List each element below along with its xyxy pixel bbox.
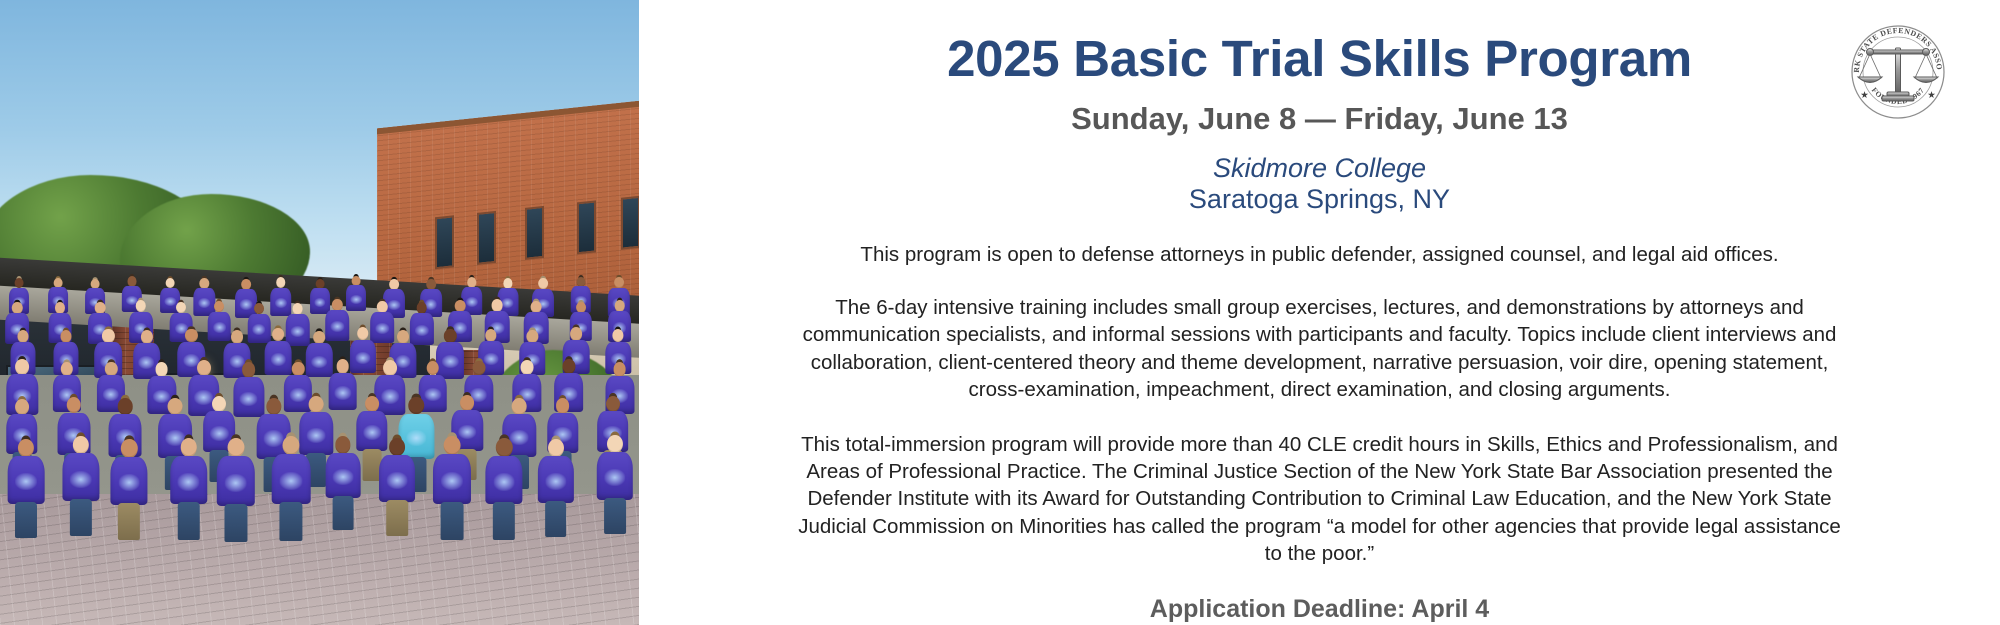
participant-head — [292, 362, 304, 376]
group-photo — [0, 0, 639, 625]
photo-scene — [0, 0, 639, 625]
participant-shirt — [399, 414, 434, 459]
participant-head — [357, 327, 369, 340]
participant-head — [197, 360, 211, 376]
participant-shirt — [325, 310, 349, 340]
participant-legs — [15, 502, 37, 539]
participant-head — [332, 299, 342, 311]
participant-shirt — [62, 453, 99, 501]
participant-head — [276, 277, 286, 288]
participant-head — [531, 301, 542, 313]
participant-head — [409, 397, 424, 415]
participant-head — [292, 303, 303, 315]
participant-legs — [545, 501, 567, 537]
participant-shirt — [306, 343, 332, 377]
participant-head — [613, 329, 624, 342]
participant-head — [254, 303, 264, 314]
participant-head — [212, 396, 226, 412]
participant-head — [282, 436, 299, 455]
participant-legs — [224, 504, 247, 542]
participant-head — [570, 327, 582, 340]
participant-head — [576, 302, 586, 313]
participant-shirt — [346, 285, 366, 311]
participant-shirt — [285, 314, 310, 346]
participant-head — [309, 396, 324, 413]
participant-head — [548, 439, 564, 457]
participant-head — [416, 302, 427, 314]
participant-shirt — [371, 312, 395, 343]
participant-head — [467, 277, 477, 288]
participant-head — [121, 439, 137, 458]
participant-legs — [333, 496, 354, 531]
participant-head — [397, 330, 409, 344]
participant-legs — [118, 503, 140, 540]
participant-legs — [70, 499, 92, 536]
participant-head — [176, 302, 186, 313]
participant-head — [472, 361, 485, 376]
participant-head — [17, 330, 28, 343]
participant-head — [614, 300, 625, 312]
participant-shirt — [436, 342, 464, 378]
participant-head — [118, 398, 133, 415]
participant-head — [444, 436, 461, 455]
participant-head — [135, 300, 146, 312]
participant-head — [455, 300, 466, 312]
participant-head — [527, 330, 538, 343]
participant-head — [313, 331, 325, 344]
participant-legs — [441, 502, 464, 540]
participant-head — [426, 279, 436, 290]
participant-shirt — [111, 457, 148, 505]
participant-head — [15, 399, 29, 415]
participant-head — [614, 277, 624, 288]
svg-text:★: ★ — [1927, 90, 1936, 101]
accreditation-paragraph: This total-immersion program will provid… — [790, 431, 1850, 568]
participant-head — [102, 329, 114, 343]
participant-shirt — [265, 341, 292, 376]
participant-shirt — [170, 456, 208, 505]
participant-shirt — [326, 453, 361, 498]
participant-shirt — [248, 314, 271, 343]
eligibility-paragraph: This program is open to defense attorney… — [790, 241, 1850, 268]
participant-legs — [493, 502, 515, 539]
participant-head — [180, 438, 197, 457]
participant-shirt — [356, 411, 387, 452]
participant-head — [15, 359, 29, 375]
participant-head — [155, 362, 168, 377]
participant-legs — [604, 498, 626, 534]
participant-shirt — [350, 340, 376, 374]
participant-legs — [279, 502, 302, 541]
participant-shirt — [217, 456, 255, 506]
participant-shirt — [537, 456, 573, 503]
participant-head — [521, 360, 534, 375]
participant-head — [227, 438, 244, 457]
participant-head — [168, 398, 183, 415]
participant-head — [389, 279, 399, 290]
participant-head — [140, 330, 152, 344]
participant-shirt — [597, 452, 633, 499]
application-deadline: Application Deadline: April 4 — [1150, 595, 1489, 624]
participant-shirt — [410, 313, 434, 344]
program-banner: NEW YORK STATE DEFENDERS ASSOCIATION FOU… — [0, 0, 2000, 625]
description-paragraph: The 6-day intensive training includes sm… — [790, 294, 1850, 404]
participant-head — [512, 398, 527, 415]
participant-head — [336, 359, 349, 373]
participant-head — [365, 396, 379, 412]
participant-head — [389, 438, 405, 456]
participant-head — [266, 398, 281, 415]
venue-name: Skidmore College — [1213, 153, 1426, 183]
participant-shirt — [310, 288, 330, 314]
participant-shirt — [379, 455, 415, 502]
participant-head — [61, 330, 72, 343]
participant-legs — [177, 502, 200, 540]
content-pane: NEW YORK STATE DEFENDERS ASSOCIATION FOU… — [639, 0, 2000, 625]
participant-shirt — [233, 377, 264, 417]
participant-head — [73, 436, 89, 455]
participant-head — [496, 438, 512, 457]
participant-shirt — [485, 456, 522, 504]
participant-head — [231, 330, 243, 344]
participant-shirt — [208, 312, 231, 341]
participant-head — [383, 360, 397, 376]
participant-shirt — [299, 412, 332, 455]
participant-head — [538, 278, 548, 289]
participant-head — [426, 361, 439, 375]
participant-head — [185, 329, 197, 343]
participant-shirt — [433, 454, 471, 503]
participant-head — [613, 362, 626, 377]
participant-crowd — [0, 275, 639, 519]
page-title: 2025 Basic Trial Skills Program — [947, 32, 1692, 86]
participant-shirt — [8, 456, 45, 503]
venue-city: Saratoga Springs, NY — [1189, 183, 1450, 215]
participant-shirt — [270, 288, 292, 316]
participant-head — [272, 328, 284, 341]
participant-legs — [386, 500, 408, 536]
participant-head — [242, 362, 256, 378]
nysda-seal-logo: NEW YORK STATE DEFENDERS ASSOCIATION FOU… — [1848, 22, 1948, 122]
participant-shirt — [328, 373, 357, 410]
participant-head — [556, 398, 570, 414]
participant-head — [503, 278, 512, 289]
participant-head — [67, 397, 82, 414]
participant-head — [214, 301, 224, 312]
participant-shirt — [374, 375, 405, 416]
svg-text:★: ★ — [1860, 90, 1869, 101]
participant-head — [606, 396, 620, 412]
participant-head — [335, 436, 350, 453]
participant-head — [55, 302, 65, 314]
participant-head — [460, 395, 474, 411]
body-copy: This program is open to defense attorney… — [790, 215, 1850, 568]
participant-head — [95, 302, 106, 314]
participant-shirt — [272, 454, 311, 504]
participant-head — [562, 359, 575, 374]
participant-head — [492, 299, 503, 311]
participant-head — [200, 278, 209, 289]
participant-head — [128, 276, 137, 286]
date-range: Sunday, June 8 — Friday, June 13 — [1071, 101, 1568, 137]
participant-head — [241, 279, 251, 290]
participant-head — [576, 277, 585, 287]
brick-plaza — [0, 494, 639, 625]
